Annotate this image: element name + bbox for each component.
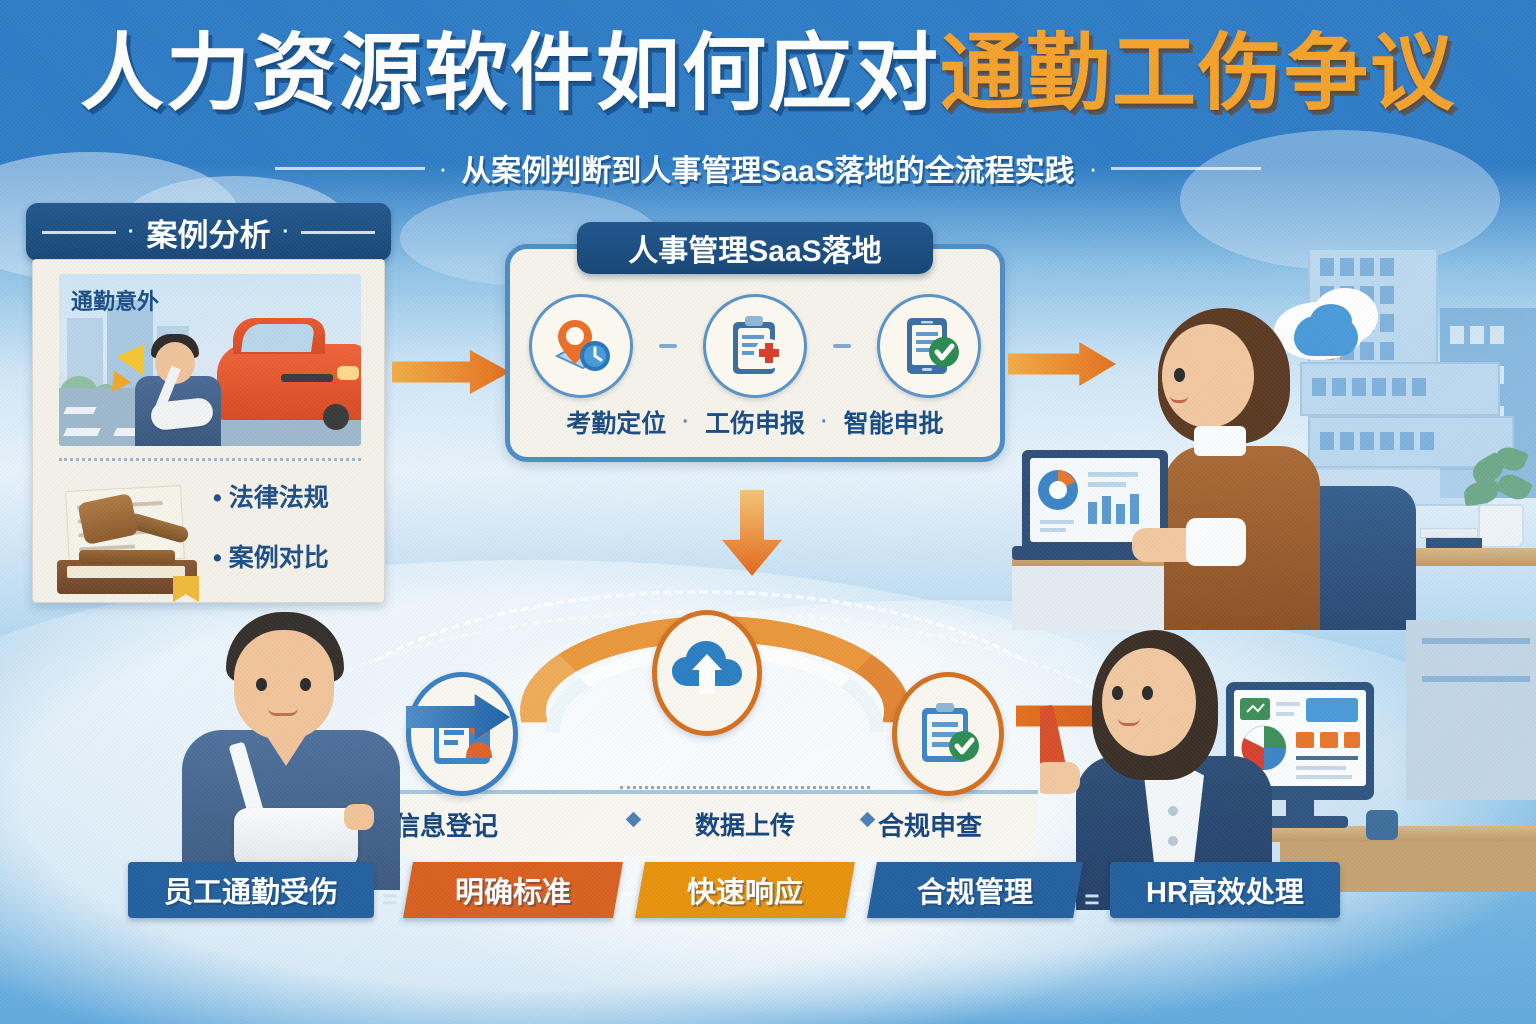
cloud-upload-icon[interactable] bbox=[652, 610, 762, 736]
icon-connector bbox=[833, 344, 851, 348]
location-clock-icon[interactable] bbox=[529, 294, 633, 398]
building-shape bbox=[1300, 362, 1500, 416]
summary-ribbon: 员工通勤受伤 = 明确标准 – 快速响应 – 合规管理 = HR高效处理 bbox=[128, 862, 1280, 918]
gavel-base bbox=[79, 550, 175, 564]
cabinet-handle bbox=[1422, 638, 1530, 644]
commute-accident-illustration: 通勤意外 bbox=[59, 274, 361, 446]
case-panel-header: · 案例分析 · bbox=[26, 203, 391, 261]
hr-person-eye bbox=[1112, 686, 1123, 700]
saas-label-approval: 智能申批 bbox=[844, 404, 944, 440]
case-panel-title: 案例分析 bbox=[147, 210, 271, 255]
compliance-check-glyph bbox=[910, 696, 986, 772]
road-stripe bbox=[63, 428, 101, 436]
book-page bbox=[67, 566, 185, 578]
ribbon-connector: = bbox=[378, 884, 402, 915]
book-stack bbox=[1426, 538, 1482, 548]
employee-hand bbox=[344, 804, 374, 830]
saas-label-claim: 工伤申报 bbox=[705, 404, 805, 440]
hr-person-hand bbox=[1040, 762, 1080, 794]
tablet-approved-icon[interactable] bbox=[877, 294, 981, 398]
book-stack bbox=[1420, 528, 1478, 538]
wheel-shape bbox=[323, 404, 349, 430]
page-title: 人力资源软件如何应对通勤工伤争议 bbox=[0, 28, 1536, 119]
case-bullet-item: 案例对比 bbox=[213, 538, 379, 574]
gavel-illustration bbox=[53, 472, 213, 596]
shirt-button bbox=[1168, 836, 1178, 846]
data-flow-section: 信息登记 数据上传 合规申查 bbox=[350, 610, 1070, 860]
cabinet-handle bbox=[1422, 676, 1530, 682]
medical-clipboard-glyph bbox=[719, 310, 791, 382]
injured-employee-illustration bbox=[168, 612, 428, 890]
employee-face bbox=[234, 630, 334, 740]
car-shape bbox=[217, 344, 361, 420]
case-panel-body: 通勤意外 法律法规 案例 bbox=[32, 259, 385, 603]
cloud-upload-glyph bbox=[668, 638, 746, 708]
arm-cast-shape bbox=[234, 808, 358, 868]
title-orange-part: 通勤工伤争议 bbox=[940, 26, 1456, 120]
flow-label-compliance: 合规申查 bbox=[878, 806, 982, 843]
headlight-shape bbox=[337, 366, 359, 380]
compliance-check-icon[interactable] bbox=[892, 672, 1004, 796]
grille-shape bbox=[281, 374, 333, 382]
ribbon-label: 合规管理 bbox=[917, 869, 1033, 911]
shirt-cuff bbox=[1186, 518, 1246, 566]
ribbon-label: 快速响应 bbox=[687, 869, 803, 911]
employee-eye bbox=[300, 678, 311, 691]
case-bullet-item: 法律法规 bbox=[213, 478, 379, 514]
ribbon-item-hr-efficiency[interactable]: HR高效处理 bbox=[1110, 862, 1340, 918]
person-collar bbox=[1194, 426, 1246, 456]
case-analysis-panel: · 案例分析 · bbox=[26, 203, 391, 603]
road-stripe bbox=[63, 407, 96, 414]
cabinet-shape bbox=[1406, 620, 1536, 800]
header-rule-left bbox=[42, 231, 116, 234]
hr-person-face bbox=[1102, 648, 1196, 756]
header-rule-right bbox=[301, 231, 375, 234]
windshield-shape bbox=[241, 324, 315, 352]
subtitle-dot-right: · bbox=[1089, 153, 1098, 184]
medical-clipboard-icon[interactable] bbox=[703, 294, 807, 398]
employee-mouth bbox=[268, 708, 298, 716]
saas-panel-title: 人事管理SaaS落地 bbox=[628, 226, 881, 270]
bookmark-shape bbox=[173, 576, 199, 602]
hr-person-eye bbox=[1142, 686, 1153, 700]
header-dot-right: · bbox=[283, 221, 290, 244]
panel-divider bbox=[59, 458, 361, 461]
ribbon-connector: = bbox=[1080, 884, 1104, 915]
subtitle-rule-right bbox=[1111, 167, 1261, 170]
icon-connector bbox=[659, 344, 677, 348]
subtitle-rule-left bbox=[275, 167, 425, 170]
saas-panel-header: 人事管理SaaS落地 bbox=[577, 222, 933, 274]
ribbon-item-employee-injury[interactable]: 员工通勤受伤 bbox=[128, 862, 374, 918]
plant-pot bbox=[1478, 504, 1524, 548]
saas-label-row: 考勤定位 · 工伤申报 · 智能申批 bbox=[505, 404, 1005, 440]
label-separator: · bbox=[682, 411, 689, 434]
ribbon-item-clear-standard[interactable]: 明确标准 bbox=[403, 862, 623, 918]
cloud-fill-icon bbox=[1310, 304, 1352, 338]
header-dot-left: · bbox=[128, 221, 135, 244]
arrow-saas-to-flow bbox=[722, 490, 782, 576]
flow-dotted-divider bbox=[620, 786, 870, 789]
location-clock-glyph bbox=[545, 310, 617, 382]
subtitle-dot-left: · bbox=[439, 153, 448, 184]
employee-eye bbox=[256, 678, 267, 691]
ribbon-label: HR高效处理 bbox=[1146, 869, 1304, 911]
ribbon-label: 员工通勤受伤 bbox=[164, 869, 338, 911]
page-subtitle: 从案例判断到人事管理SaaS落地的全流程实践 bbox=[461, 146, 1074, 190]
title-white-part: 人力资源软件如何应对 bbox=[80, 26, 940, 120]
arrow-case-to-saas bbox=[392, 350, 510, 394]
header: 人力资源软件如何应对通勤工伤争议 · 从案例判断到人事管理SaaS落地的全流程实… bbox=[0, 0, 1536, 200]
ribbon-label: 明确标准 bbox=[455, 869, 571, 911]
case-bullet-list: 法律法规 案例对比 bbox=[213, 478, 379, 598]
label-separator: · bbox=[821, 411, 828, 434]
ribbon-item-compliance[interactable]: 合规管理 bbox=[867, 862, 1083, 918]
saas-panel: 人事管理SaaS落地 bbox=[505, 222, 1005, 462]
infographic-canvas: 人力资源软件如何应对通勤工伤争议 · 从案例判断到人事管理SaaS落地的全流程实… bbox=[0, 0, 1536, 1024]
monitor-stand bbox=[1286, 800, 1314, 816]
ribbon-item-fast-response[interactable]: 快速响应 bbox=[635, 862, 855, 918]
flow-label-upload: 数据上传 bbox=[630, 806, 860, 842]
saas-icon-row bbox=[505, 294, 1005, 398]
shirt-button bbox=[1168, 806, 1178, 816]
tablet-approved-glyph bbox=[893, 310, 965, 382]
coffee-cup bbox=[1366, 810, 1398, 840]
hr-desk-illustration-top bbox=[1012, 250, 1536, 630]
subtitle-row: · 从案例判断到人事管理SaaS落地的全流程实践 · bbox=[0, 146, 1536, 190]
person-eye bbox=[1174, 368, 1185, 382]
accident-label: 通勤意外 bbox=[71, 284, 159, 316]
saas-label-attendance: 考勤定位 bbox=[566, 404, 666, 440]
